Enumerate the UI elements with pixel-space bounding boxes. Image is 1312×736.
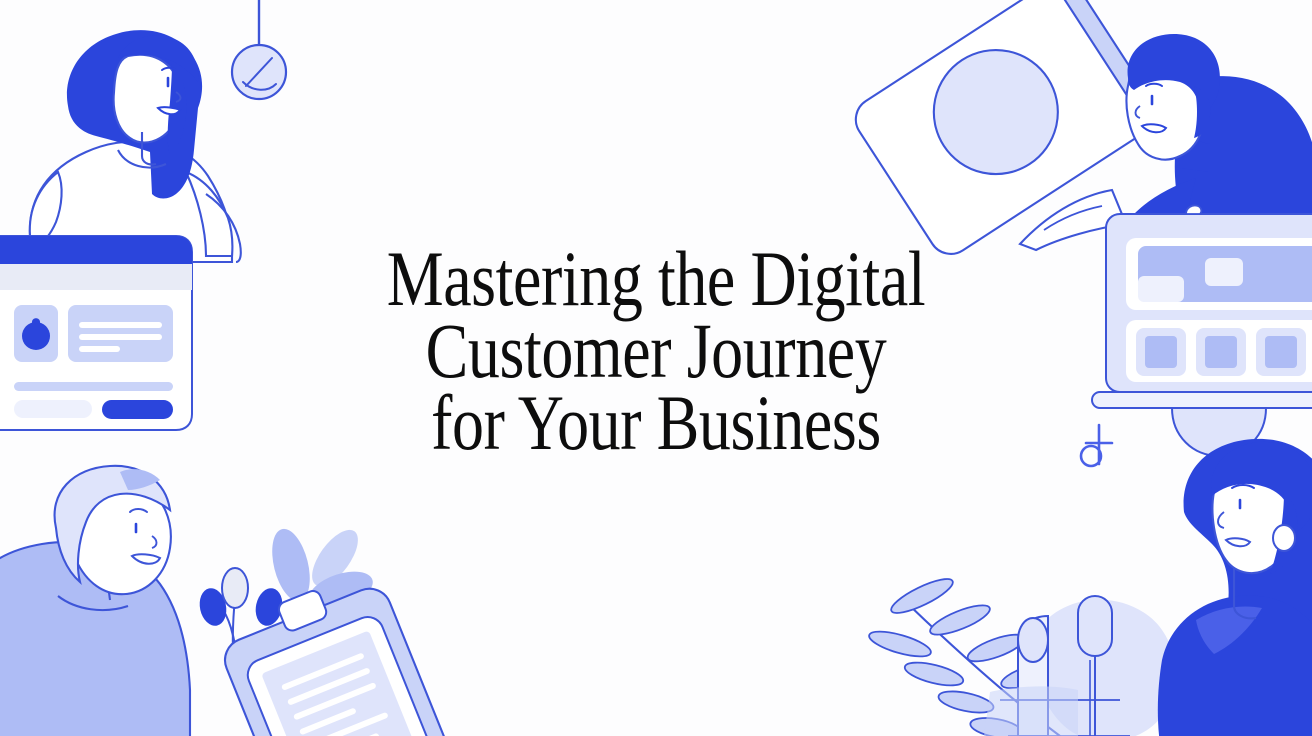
microphone-illustration [1078, 596, 1112, 736]
woman-dark-hair-illustration [1158, 439, 1312, 736]
fern-branch-illustration [867, 573, 1060, 736]
title-line-1: Mastering the Digital [118, 243, 1194, 315]
bud-plant-illustration [196, 522, 377, 690]
pendant-lamp-icon [232, 0, 286, 99]
hero-banner: Mastering the Digital Customer Journey f… [0, 0, 1312, 736]
clipboard-tablet-illustration [212, 565, 464, 736]
title-line-2: Customer Journey [118, 315, 1194, 387]
title-line-3: for Your Business [118, 387, 1194, 459]
man-light-hair-illustration [0, 466, 190, 736]
man-blue-hair-illustration [1020, 34, 1312, 255]
page-title: Mastering the Digital Customer Journey f… [0, 243, 1312, 459]
paper-stack-illustration [984, 600, 1175, 736]
woman-long-hair-illustration [30, 30, 241, 262]
